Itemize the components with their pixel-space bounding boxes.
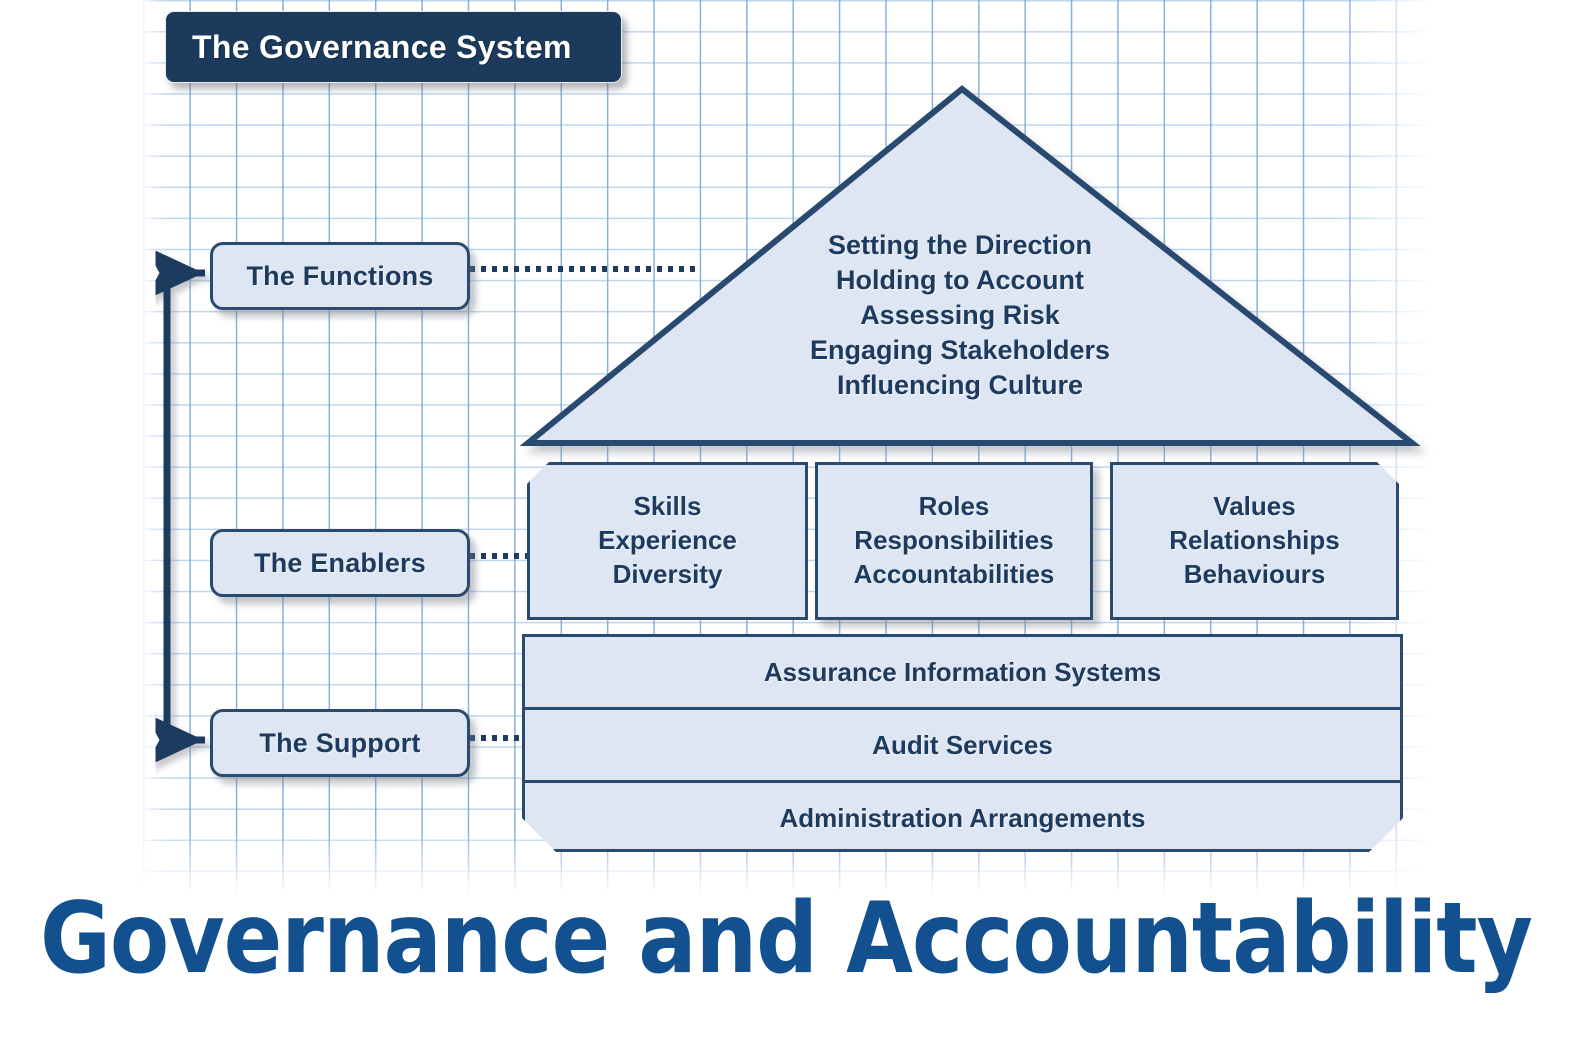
roof-line-4: Engaging Stakeholders bbox=[660, 333, 1260, 368]
pillar-skills[interactable]: Skills Experience Diversity bbox=[527, 462, 808, 620]
pillar-roles-line-3: Accountabilities bbox=[854, 559, 1055, 589]
roof-line-2: Holding to Account bbox=[660, 263, 1260, 298]
category-box-support[interactable]: The Support bbox=[210, 709, 470, 777]
pillar-skills-line-1: Skills bbox=[634, 491, 702, 521]
category-label-support: The Support bbox=[259, 728, 420, 759]
roof-text-block: Setting the Direction Holding to Account… bbox=[660, 228, 1260, 403]
pillar-roles-line-1: Roles bbox=[919, 491, 990, 521]
foundation-row-assurance[interactable]: Assurance Information Systems bbox=[525, 637, 1400, 707]
pillar-values-line-1: Values bbox=[1213, 491, 1295, 521]
foundation-row-audit[interactable]: Audit Services bbox=[525, 707, 1400, 780]
foundation-block: Assurance Information Systems Audit Serv… bbox=[522, 634, 1403, 852]
pillar-values-line-2: Relationships bbox=[1169, 525, 1339, 555]
pillar-values-line-3: Behaviours bbox=[1184, 559, 1326, 589]
pillar-roles[interactable]: Roles Responsibilities Accountabilities bbox=[815, 462, 1093, 620]
category-label-functions: The Functions bbox=[246, 261, 433, 292]
pillar-skills-line-2: Experience bbox=[598, 525, 737, 555]
roof-line-3: Assessing Risk bbox=[660, 298, 1260, 333]
pillar-roles-line-2: Responsibilities bbox=[854, 525, 1053, 555]
page-headline: Governance and Accountability bbox=[40, 888, 1520, 991]
category-label-enablers: The Enablers bbox=[254, 548, 426, 579]
pillar-skills-line-3: Diversity bbox=[613, 559, 723, 589]
foundation-row-administration[interactable]: Administration Arrangements bbox=[525, 780, 1400, 853]
roof-line-1: Setting the Direction bbox=[660, 228, 1260, 263]
pillar-values[interactable]: Values Relationships Behaviours bbox=[1110, 462, 1399, 620]
diagram-canvas: The Governance System bbox=[0, 0, 1587, 1042]
left-bracket-connector bbox=[167, 273, 205, 740]
roof-line-5: Influencing Culture bbox=[660, 368, 1260, 403]
category-box-enablers[interactable]: The Enablers bbox=[210, 529, 470, 597]
category-box-functions[interactable]: The Functions bbox=[210, 242, 470, 310]
